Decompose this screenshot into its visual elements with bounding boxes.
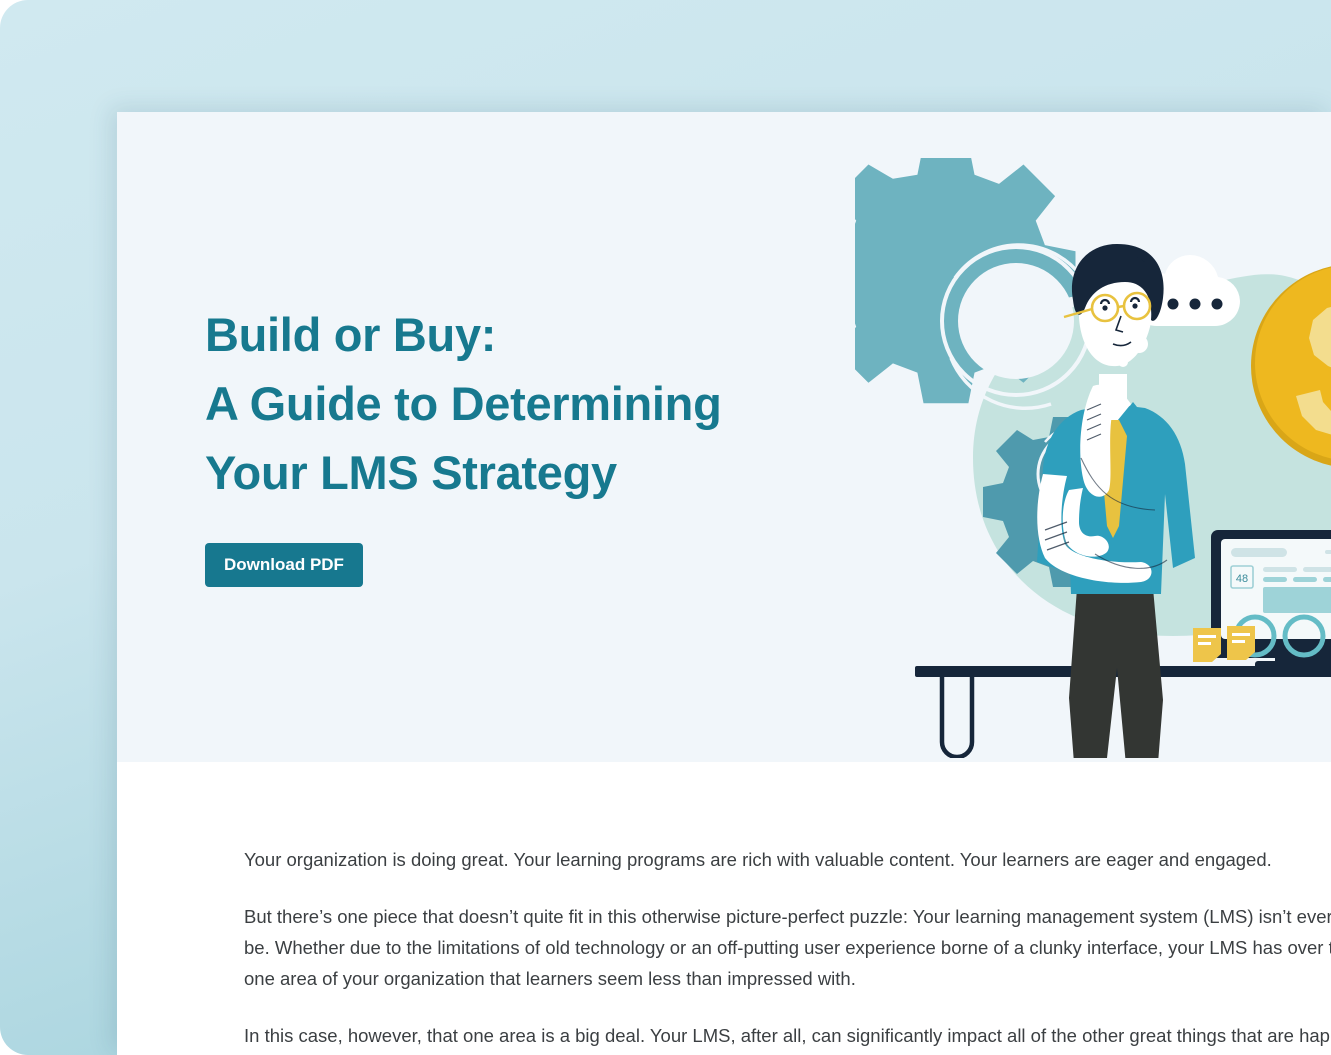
glasses-icon <box>1064 293 1150 321</box>
monitor-value-label: 48 <box>1236 573 1248 585</box>
businessman-figure <box>1037 244 1195 758</box>
blob-background <box>973 274 1331 636</box>
article-body: Your organization is doing great. Your l… <box>117 762 1331 1055</box>
download-pdf-button[interactable]: Download PDF <box>205 543 363 587</box>
dollar-coin-icon <box>1251 264 1331 468</box>
article-paragraph: In this case, however, that one area is … <box>244 1020 1331 1055</box>
hero-banner: Build or Buy: A Guide to Determining You… <box>117 112 1331 762</box>
bubble-dot <box>1168 299 1179 310</box>
hero-illustration: 48 <box>855 158 1331 758</box>
document-card: Build or Buy: A Guide to Determining You… <box>117 112 1331 1055</box>
sticky-notes-icon <box>1193 626 1255 662</box>
thought-bubble-icon <box>1118 255 1240 367</box>
page-title: Build or Buy: A Guide to Determining You… <box>205 300 825 507</box>
desk <box>915 666 1331 757</box>
small-gear-icon <box>983 417 1153 587</box>
article-paragraph: But there’s one piece that doesn’t quite… <box>244 901 1331 994</box>
article-paragraph: Your organization is doing great. Your l… <box>244 844 1331 875</box>
monitor-screen: 48 <box>1211 530 1331 669</box>
bubble-dot <box>1190 299 1201 310</box>
large-gear-icon <box>855 158 1090 408</box>
bubble-dot <box>1212 299 1223 310</box>
page-backdrop: Build or Buy: A Guide to Determining You… <box>0 0 1331 1055</box>
hero-text-block: Build or Buy: A Guide to Determining You… <box>205 300 825 587</box>
